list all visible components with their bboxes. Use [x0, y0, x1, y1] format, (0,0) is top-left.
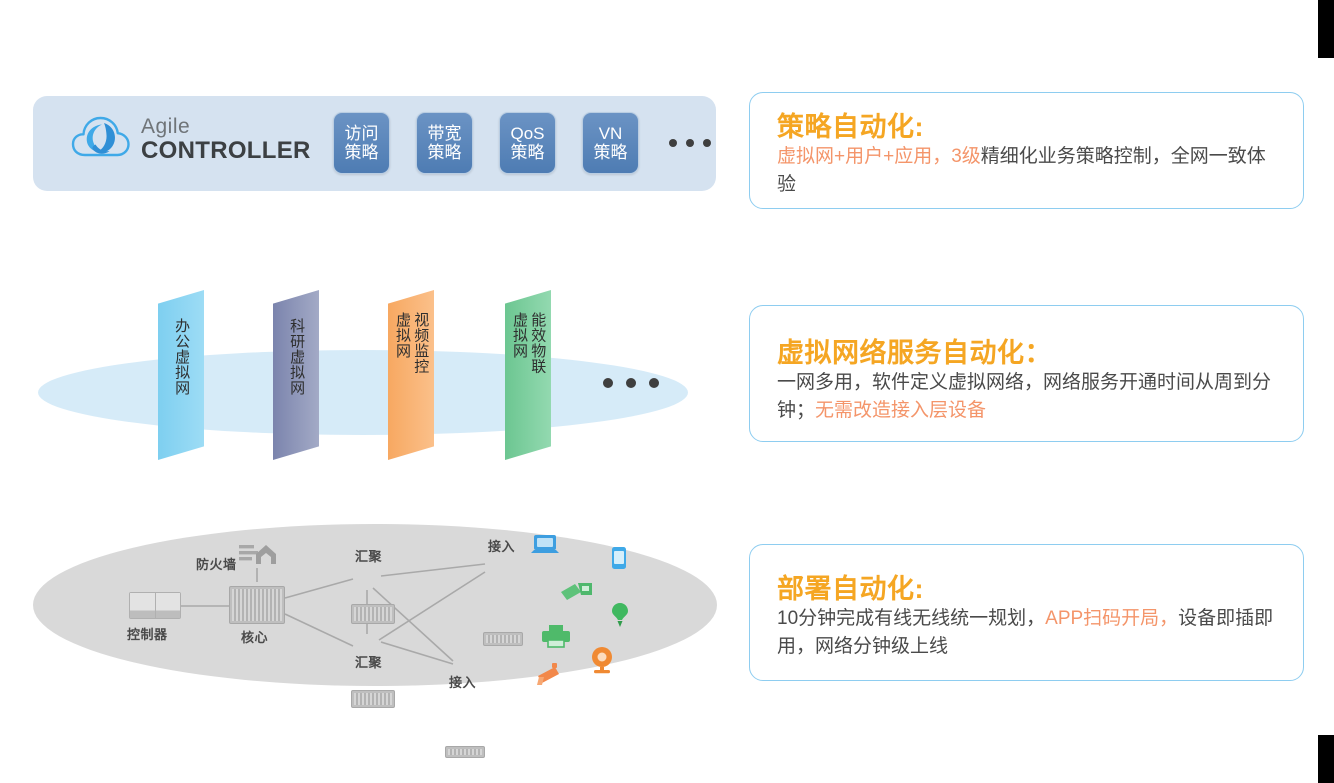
vn-slab-label-col1: 虚拟网 — [394, 312, 410, 374]
cctv-icon — [535, 662, 565, 691]
logo-controller-text: CONTROLLER — [141, 139, 311, 163]
policy-chip-line1: 访问 — [345, 124, 379, 143]
card-title: 策略自动化: — [777, 105, 924, 144]
card-body-highlight: 无需改造接入层设备 — [815, 400, 986, 421]
laptop-icon — [530, 534, 560, 563]
cloud-swirl-icon — [71, 113, 131, 165]
printer-icon — [540, 624, 572, 653]
policy-more-ellipsis-icon — [669, 139, 711, 147]
controller-node-label: 控制器 — [127, 624, 168, 643]
logo-agile-text: Agile — [141, 116, 311, 137]
vn-more-ellipsis-icon — [603, 378, 659, 388]
policy-chip-access[interactable]: 访问 策略 — [333, 112, 390, 174]
lightbulb-icon — [611, 602, 629, 633]
vn-slab-label-col2: 能效物联 — [529, 312, 545, 374]
vn-slab-research[interactable]: 科研虚拟网 — [273, 290, 319, 460]
core-node-label: 核心 — [241, 627, 268, 646]
card-title: 虚拟网络服务自动化： — [777, 331, 1052, 370]
access-node-1-label: 接入 — [488, 536, 515, 555]
firewall-node-label: 防火墙 — [196, 554, 237, 573]
policy-chip-bandwidth[interactable]: 带宽 策略 — [416, 112, 473, 174]
webcam-icon — [589, 646, 615, 679]
policy-chip-line1: 带宽 — [428, 124, 462, 143]
agile-controller-logo: Agile CONTROLLER — [71, 113, 311, 165]
aggregation-node-1-label: 汇聚 — [355, 546, 382, 565]
scanner-icon — [559, 580, 595, 607]
vn-slab-office[interactable]: 办公虚拟网 — [158, 290, 204, 460]
access-node-2-label: 接入 — [449, 672, 476, 691]
card-body-highlight: APP扫码开局， — [1045, 608, 1178, 629]
card-body-highlight: 虚拟网+用户+应用，3级 — [777, 146, 981, 167]
vn-slab-label-col2: 视频监控 — [412, 312, 428, 374]
aggregation-node-2[interactable] — [351, 690, 395, 708]
policy-chip-line2: 策略 — [511, 143, 545, 162]
policy-chip-vn[interactable]: VN 策略 — [582, 112, 639, 174]
firewall-node[interactable] — [239, 542, 277, 573]
access-node-1[interactable] — [483, 632, 523, 646]
policy-automation-card: 策略自动化: 虚拟网+用户+应用，3级精细化业务策略控制，全网一致体验 — [749, 92, 1304, 209]
agile-controller-panel: Agile CONTROLLER 访问 策略 带宽 策略 QoS 策略 VN 策… — [33, 96, 716, 191]
vn-slab-label: 办公虚拟网 — [173, 318, 189, 396]
policy-chip-row: 访问 策略 带宽 策略 QoS 策略 VN 策略 — [333, 112, 711, 174]
phone-icon — [611, 546, 627, 575]
right-edge-bar-top — [1318, 0, 1334, 58]
virtual-network-service-automation-card: 虚拟网络服务自动化： 一网多用，软件定义虚拟网络，网络服务开通时间从周到分钟；无… — [749, 305, 1304, 442]
controller-node[interactable] — [129, 592, 181, 619]
deployment-automation-card: 部署自动化: 10分钟完成有线无线统一规划，APP扫码开局，设备即插即用，网络分… — [749, 544, 1304, 681]
virtual-network-diagram: 办公虚拟网 科研虚拟网 虚拟网 视频监控 虚拟网 能效物联 — [33, 290, 733, 490]
policy-chip-line1: VN — [599, 124, 623, 143]
aggregation-node-2-label: 汇聚 — [355, 652, 382, 671]
vn-slab-label: 科研虚拟网 — [288, 318, 304, 396]
card-title: 部署自动化: — [777, 567, 924, 606]
policy-chip-line2: 策略 — [345, 143, 379, 162]
vn-slab-label-col1: 虚拟网 — [511, 312, 527, 374]
card-body-rest: 10分钟完成有线无线统一规划， — [777, 608, 1045, 629]
slide-canvas: Agile CONTROLLER 访问 策略 带宽 策略 QoS 策略 VN 策… — [0, 0, 1334, 783]
network-topology-diagram: 控制器 防火墙 核心 汇聚 汇聚 接入 接入 — [33, 524, 723, 694]
policy-chip-line2: 策略 — [594, 143, 628, 162]
card-body: 10分钟完成有线无线统一规划，APP扫码开局，设备即插即用，网络分钟级上线 — [777, 605, 1283, 660]
right-edge-bar-bottom — [1318, 735, 1334, 783]
policy-chip-line2: 策略 — [428, 143, 462, 162]
card-body: 虚拟网+用户+应用，3级精细化业务策略控制，全网一致体验 — [777, 143, 1283, 198]
vn-slab-iot-energy[interactable]: 虚拟网 能效物联 — [505, 290, 551, 460]
virtual-network-backdrop-ellipse — [38, 350, 688, 435]
vn-slab-video-surveillance[interactable]: 虚拟网 视频监控 — [388, 290, 434, 460]
policy-chip-qos[interactable]: QoS 策略 — [499, 112, 556, 174]
aggregation-node-1[interactable] — [351, 604, 395, 624]
core-node[interactable] — [229, 586, 285, 624]
policy-chip-line1: QoS — [510, 124, 544, 143]
card-body: 一网多用，软件定义虚拟网络，网络服务开通时间从周到分钟；无需改造接入层设备 — [777, 369, 1283, 424]
access-node-2[interactable] — [445, 746, 485, 758]
